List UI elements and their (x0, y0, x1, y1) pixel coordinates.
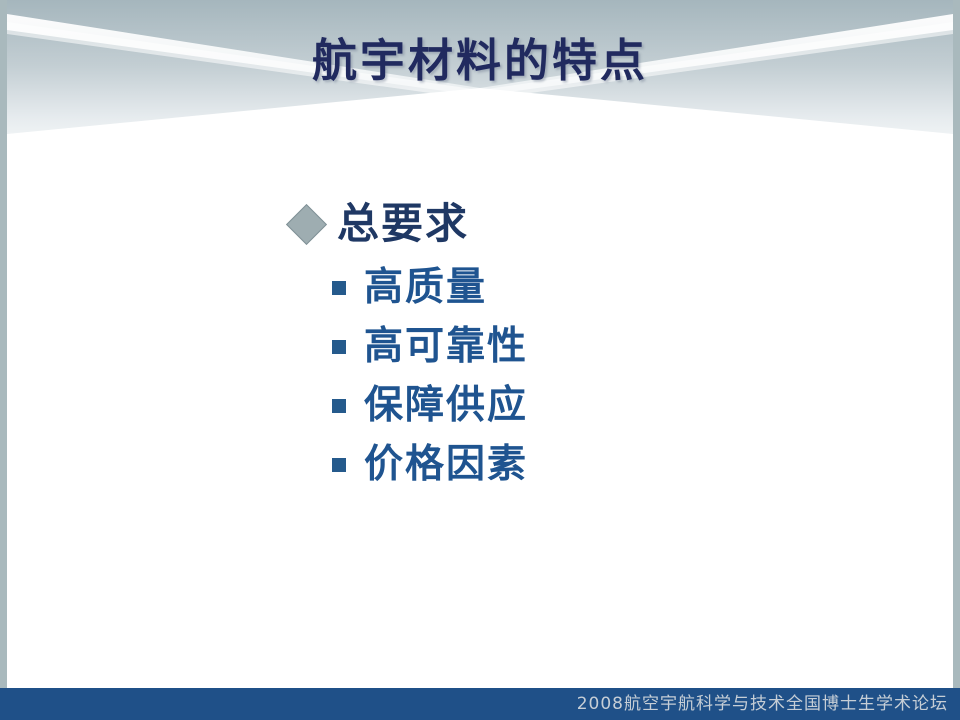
bullet-level2-label: 保障供应 (364, 384, 528, 428)
bullet-level2-label: 高可靠性 (364, 325, 528, 369)
footer-text: 2008航空宇航科学与技术全国博士生学术论坛 (577, 693, 948, 715)
list-item: 高可靠性 (332, 317, 900, 376)
slide-title: 航宇材料的特点 (0, 33, 960, 89)
bullet-level2-label: 价格因素 (364, 443, 528, 487)
bullet-level2-list: 高质量 高可靠性 保障供应 价格因素 (332, 258, 900, 494)
list-item: 高质量 (332, 258, 900, 317)
square-bullet-icon (332, 340, 346, 354)
left-edge-strip (0, 0, 7, 720)
square-bullet-icon (332, 281, 346, 295)
presentation-slide: 航宇材料的特点 总要求 高质量 高可靠性 保障供应 价格因素 (0, 0, 960, 720)
list-item: 保障供应 (332, 376, 900, 435)
list-item: 价格因素 (332, 435, 900, 494)
square-bullet-icon (332, 399, 346, 413)
bullet-level2-label: 高质量 (364, 266, 487, 310)
bullet-level1-label: 总要求 (337, 201, 469, 247)
right-edge-strip (953, 0, 960, 720)
slide-body: 总要求 高质量 高可靠性 保障供应 价格因素 (290, 196, 900, 494)
square-bullet-icon (332, 458, 346, 472)
bullet-level1: 总要求 (290, 196, 900, 252)
footer-bar: 2008航空宇航科学与技术全国博士生学术论坛 (0, 688, 960, 720)
diamond-bullet-icon (286, 203, 327, 244)
